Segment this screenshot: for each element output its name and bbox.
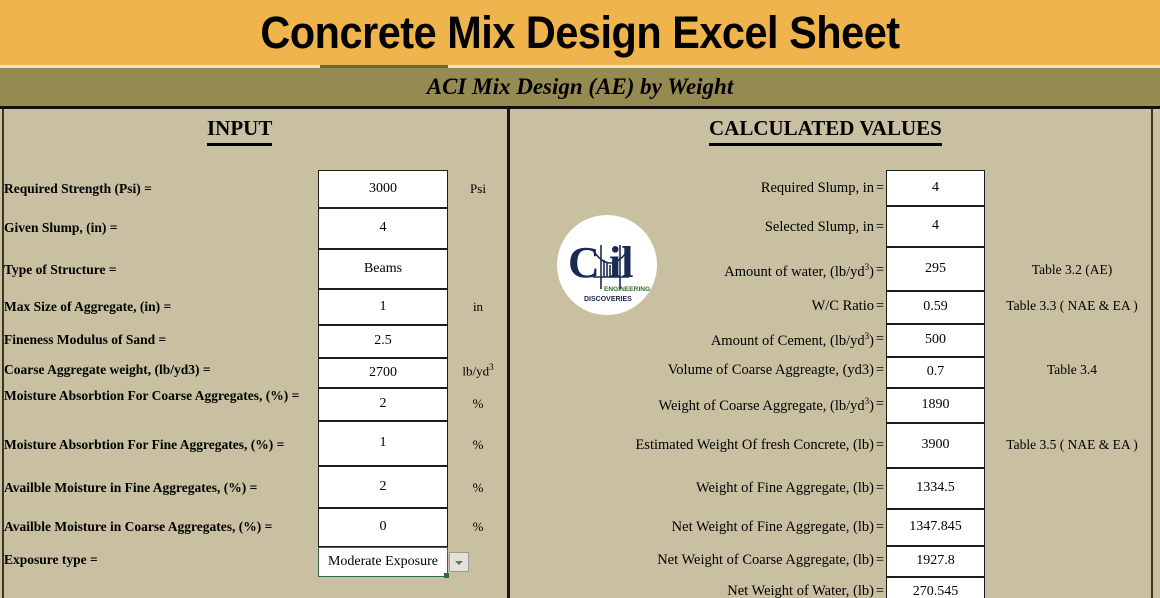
calc-label-amount-of-cement: Amount of Cement, (lb/yd3) <box>544 331 874 350</box>
input-label-max-size-of-aggregate: Max Size of Aggregate, (in) = <box>4 299 316 315</box>
calc-note-estimated-weight-fresh-concrete: Table 3.5 ( NAE & EA ) <box>993 437 1151 453</box>
calc-label-selected-slump: Selected Slump, in <box>544 219 874 236</box>
calc-label-volume-coarse-aggregate: Volume of Coarse Aggreagte, (yd3) <box>544 362 874 379</box>
input-field-moisture-absorption-coarse[interactable]: 2 <box>318 388 448 421</box>
calc-note-volume-coarse-aggregate: Table 3.4 <box>993 362 1151 378</box>
input-unit-available-moisture-fine: % <box>452 480 504 496</box>
logo-line1: ENGINEERING <box>604 286 650 293</box>
input-field-available-moisture-fine[interactable]: 2 <box>318 466 448 508</box>
calc-note-wc-ratio: Table 3.3 ( NAE & EA ) <box>993 298 1151 314</box>
calc-equals-11: = <box>874 583 886 598</box>
input-label-required-strength: Required Strength (Psi) = <box>4 181 316 197</box>
calc-value-net-weight-fine-aggregate: 1347.845 <box>886 509 985 546</box>
calc-value-net-weight-water: 270.545 <box>886 577 985 598</box>
calc-label-amount-of-water: Amount of water, (lb/yd3) <box>544 262 874 281</box>
input-field-given-slump[interactable]: 4 <box>318 208 448 249</box>
section-divider <box>507 109 510 598</box>
input-unit-required-strength: Psi <box>452 181 504 197</box>
input-field-max-size-of-aggregate[interactable]: 1 <box>318 289 448 325</box>
subtitle-bar: ACI Mix Design (AE) by Weight <box>0 68 1160 109</box>
calc-value-wc-ratio: 0.59 <box>886 291 985 324</box>
calc-label-net-weight-coarse-aggregate: Net Weight of Coarse Aggregate, (lb) <box>544 552 874 569</box>
input-field-required-strength[interactable]: 3000 <box>318 170 448 208</box>
input-unit-moisture-absorption-fine: % <box>452 437 504 453</box>
sheet-right-border <box>1151 109 1153 598</box>
input-label-exposure-type: Exposure type = <box>4 552 316 568</box>
calc-label-wc-ratio: W/C Ratio <box>544 298 874 315</box>
chevron-down-glyph <box>455 561 463 565</box>
calc-equals-8: = <box>874 480 886 497</box>
subtitle: ACI Mix Design (AE) by Weight <box>0 68 1160 106</box>
input-label-moisture-absorption-coarse: Moisture Absorbtion For Coarse Aggregate… <box>4 388 316 404</box>
calculated-section-heading: CALCULATED VALUES <box>709 116 942 146</box>
calc-value-amount-of-cement: 500 <box>886 324 985 357</box>
calc-label-weight-coarse-aggregate: Weight of Coarse Aggregate, (lb/yd3) <box>544 396 874 415</box>
calc-note-amount-of-water: Table 3.2 (AE) <box>993 262 1151 278</box>
input-field-available-moisture-coarse[interactable]: 0 <box>318 508 448 547</box>
input-unit-moisture-absorption-coarse: % <box>452 396 504 412</box>
calc-value-weight-fine-aggregate: 1334.5 <box>886 468 985 509</box>
calc-value-selected-slump: 4 <box>886 206 985 247</box>
exposure-type-dropdown[interactable]: Moderate Exposure <box>318 547 448 577</box>
calc-label-required-slump: Required Slump, in <box>544 180 874 197</box>
calc-equals-2: = <box>874 262 886 279</box>
calc-equals-9: = <box>874 519 886 536</box>
input-unit-max-size-of-aggregate: in <box>452 299 504 315</box>
calc-value-volume-coarse-aggregate: 0.7 <box>886 357 985 388</box>
calc-value-amount-of-water: 295 <box>886 247 985 291</box>
calc-equals-1: = <box>874 219 886 236</box>
input-label-moisture-absorption-fine: Moisture Absorbtion For Fine Aggregates,… <box>4 437 316 453</box>
input-field-fineness-modulus[interactable]: 2.5 <box>318 325 448 358</box>
calc-equals-0: = <box>874 180 886 197</box>
input-unit-coarse-aggregate-weight: lb/yd3 <box>452 362 504 379</box>
calc-equals-5: = <box>874 362 886 379</box>
input-label-fineness-modulus: Fineness Modulus of Sand = <box>4 332 316 348</box>
calc-value-estimated-weight-fresh-concrete: 3900 <box>886 423 985 468</box>
calc-equals-4: = <box>874 331 886 348</box>
calc-equals-3: = <box>874 298 886 315</box>
calc-value-required-slump: 4 <box>886 170 985 206</box>
page-title: Concrete Mix Design Excel Sheet <box>46 0 1113 65</box>
calc-equals-10: = <box>874 552 886 569</box>
input-label-available-moisture-fine: Availble Moisture in Fine Aggregates, (%… <box>4 480 316 496</box>
cell-fill-handle[interactable] <box>444 573 449 578</box>
input-label-type-of-structure: Type of Structure = <box>4 262 316 278</box>
calc-label-net-weight-water: Net Weight of Water, (lb) <box>544 583 874 598</box>
input-section-heading: INPUT <box>207 116 272 146</box>
calc-label-net-weight-fine-aggregate: Net Weight of Fine Aggregate, (lb) <box>544 519 874 536</box>
chevron-down-icon[interactable] <box>449 552 469 572</box>
concrete-mix-design-sheet: Concrete Mix Design Excel Sheet ACI Mix … <box>0 0 1160 598</box>
calc-equals-7: = <box>874 437 886 454</box>
input-label-given-slump: Given Slump, (in) = <box>4 220 316 236</box>
input-label-coarse-aggregate-weight: Coarse Aggregate weight, (lb/yd3) = <box>4 362 316 378</box>
input-field-moisture-absorption-fine[interactable]: 1 <box>318 421 448 466</box>
input-label-available-moisture-coarse: Availble Moisture in Coarse Aggregates, … <box>4 519 316 535</box>
input-field-coarse-aggregate-weight[interactable]: 2700 <box>318 358 448 388</box>
calc-label-weight-fine-aggregate: Weight of Fine Aggregate, (lb) <box>544 480 874 497</box>
calc-value-weight-coarse-aggregate: 1890 <box>886 388 985 423</box>
input-unit-available-moisture-coarse: % <box>452 519 504 535</box>
title-banner: Concrete Mix Design Excel Sheet <box>0 0 1160 65</box>
calc-value-net-weight-coarse-aggregate: 1927.8 <box>886 546 985 577</box>
input-field-type-of-structure[interactable]: Beams <box>318 249 448 289</box>
calc-label-estimated-weight-fresh-concrete: Estimated Weight Of fresh Concrete, (lb) <box>544 437 874 454</box>
calc-equals-6: = <box>874 396 886 413</box>
